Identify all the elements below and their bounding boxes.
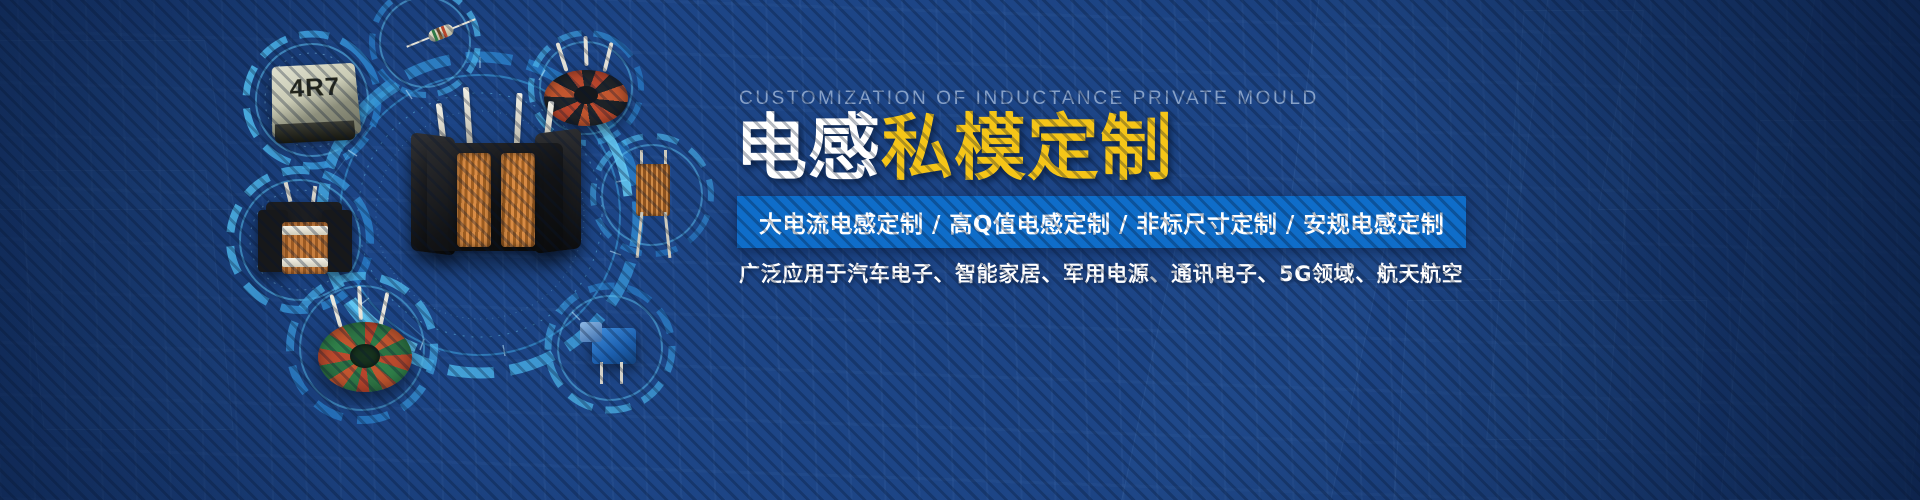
product-blue-radial-inductor — [578, 320, 646, 382]
services-bar-text: 大电流电感定制 / 高Q值电感定制 / 非标尺寸定制 / 安规电感定制 — [759, 205, 1444, 239]
banner-headline: 电感私模定制 — [735, 112, 1173, 184]
product-smd-inductor-4r7: 4R7 — [272, 62, 358, 136]
smd-chip-label: 4R7 — [272, 71, 360, 105]
product-common-mode-choke-hero — [405, 105, 585, 290]
product-axial-coil-inductor — [618, 150, 688, 260]
headline-white-part: 电感 — [735, 106, 881, 190]
product-artwork: 4R7 — [0, 0, 740, 500]
banner-copy: CUSTOMIZATION OF INDUCTANCE PRIVATE MOUL… — [735, 0, 1735, 500]
product-common-mode-choke-small — [252, 196, 356, 282]
inductance-banner: 4R7 — [0, 0, 1920, 500]
headline-yellow-part: 私模定制 — [881, 106, 1173, 190]
banner-tagline: 广泛应用于汽车电子、智能家居、军用电源、通讯电子、5G领域、航天航空 — [739, 258, 1463, 288]
product-toroidal-choke-green — [312, 300, 418, 400]
services-bar: 大电流电感定制 / 高Q值电感定制 / 非标尺寸定制 / 安规电感定制 — [737, 196, 1466, 248]
